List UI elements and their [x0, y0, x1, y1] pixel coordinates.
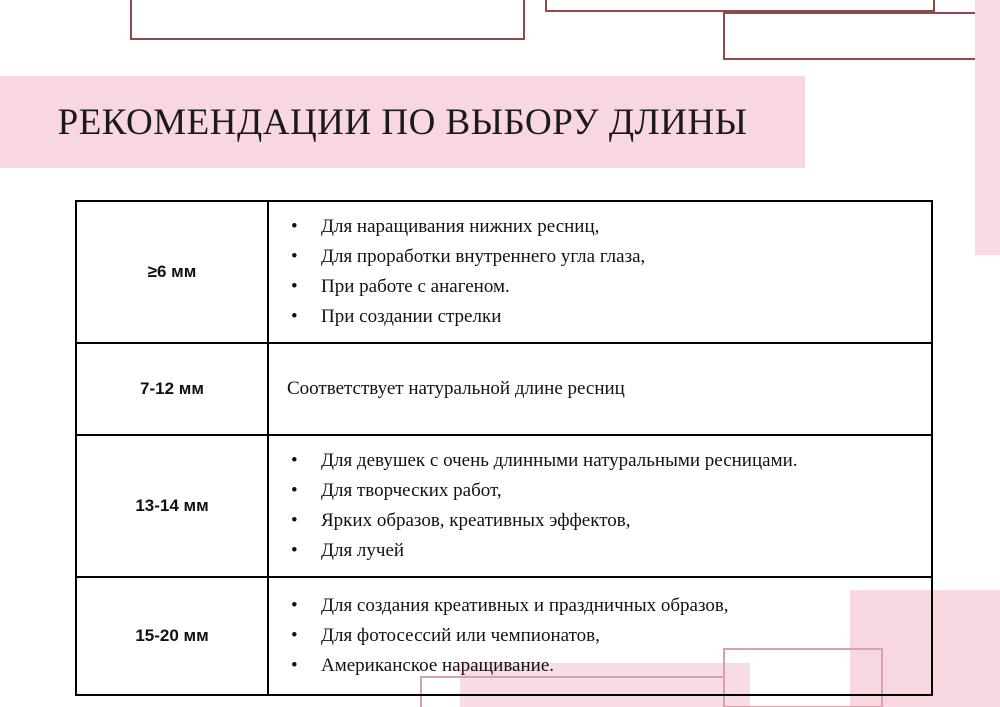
- list-item-label: Для создания креативных и праздничных об…: [321, 595, 729, 616]
- list-item: •Для девушек с очень длинными натуральны…: [287, 446, 917, 476]
- list-item: •Ярких образов, креативных эффектов,: [287, 506, 917, 536]
- bullet-icon: •: [291, 591, 298, 621]
- description-cell: •Для создания креативных и праздничных о…: [268, 577, 932, 695]
- bullet-icon: •: [291, 536, 298, 566]
- bullet-list: •Для девушек с очень длинными натуральны…: [287, 446, 917, 566]
- description-cell: •Для наращивания нижних ресниц, •Для про…: [268, 201, 932, 343]
- description-text: Соответствует натуральной длине ресниц: [287, 374, 917, 404]
- range-label: 15-20 мм: [76, 577, 268, 695]
- list-item-label: Для фотосессий или чемпионатов,: [321, 625, 600, 646]
- list-item-label: Для проработки внутреннего угла глаза,: [321, 246, 645, 267]
- bullet-icon: •: [291, 621, 298, 651]
- list-item: •При создании стрелки: [287, 302, 917, 332]
- table-row: ≥6 мм •Для наращивания нижних ресниц, •Д…: [76, 201, 932, 343]
- list-item-label: Ярких образов, креативных эффектов,: [321, 510, 631, 531]
- bullet-icon: •: [291, 212, 298, 242]
- table-row: 13-14 мм •Для девушек с очень длинными н…: [76, 435, 932, 577]
- description-cell: •Для девушек с очень длинными натуральны…: [268, 435, 932, 577]
- decorative-bar-right: [975, 0, 1000, 255]
- bullet-icon: •: [291, 302, 298, 332]
- bullet-icon: •: [291, 272, 298, 302]
- bullet-icon: •: [291, 506, 298, 536]
- bullet-list: •Для создания креативных и праздничных о…: [287, 591, 917, 681]
- bullet-list: •Для наращивания нижних ресниц, •Для про…: [287, 212, 917, 332]
- list-item: •Американское наращивание.: [287, 651, 917, 681]
- bullet-icon: •: [291, 651, 298, 681]
- bullet-icon: •: [291, 242, 298, 272]
- range-label: 13-14 мм: [76, 435, 268, 577]
- page-title: РЕКОМЕНДАЦИИ ПО ВЫБОРУ ДЛИНЫ: [0, 76, 805, 168]
- decorative-frame-top-right-secondary: [723, 12, 1000, 60]
- table-row: 15-20 мм •Для создания креативных и праз…: [76, 577, 932, 695]
- list-item-label: Для девушек с очень длинными натуральным…: [321, 450, 798, 471]
- list-item: •Для наращивания нижних ресниц,: [287, 212, 917, 242]
- list-item: •Для творческих работ,: [287, 476, 917, 506]
- table-row: 7-12 мм Соответствует натуральной длине …: [76, 343, 932, 435]
- list-item: •Для фотосессий или чемпионатов,: [287, 621, 917, 651]
- decorative-frame-top-right: [545, 0, 935, 12]
- list-item: •При работе с анагеном.: [287, 272, 917, 302]
- list-item-label: Для лучей: [321, 540, 404, 561]
- list-item: •Для проработки внутреннего угла глаза,: [287, 242, 917, 272]
- list-item: •Для создания креативных и праздничных о…: [287, 591, 917, 621]
- list-item: •Для лучей: [287, 536, 917, 566]
- decorative-frame-top-left: [130, 0, 525, 40]
- description-cell: Соответствует натуральной длине ресниц: [268, 343, 932, 435]
- bullet-icon: •: [291, 476, 298, 506]
- list-item-label: При создании стрелки: [321, 306, 501, 327]
- length-recommendation-table: ≥6 мм •Для наращивания нижних ресниц, •Д…: [75, 200, 933, 696]
- bullet-icon: •: [291, 446, 298, 476]
- slide: РЕКОМЕНДАЦИИ ПО ВЫБОРУ ДЛИНЫ ≥6 мм •Для …: [0, 0, 1000, 707]
- list-item-label: Для творческих работ,: [321, 480, 502, 501]
- list-item-label: При работе с анагеном.: [321, 276, 510, 297]
- list-item-label: Для наращивания нижних ресниц,: [321, 216, 599, 237]
- list-item-label: Американское наращивание.: [321, 655, 554, 676]
- range-label: 7-12 мм: [76, 343, 268, 435]
- range-label: ≥6 мм: [76, 201, 268, 343]
